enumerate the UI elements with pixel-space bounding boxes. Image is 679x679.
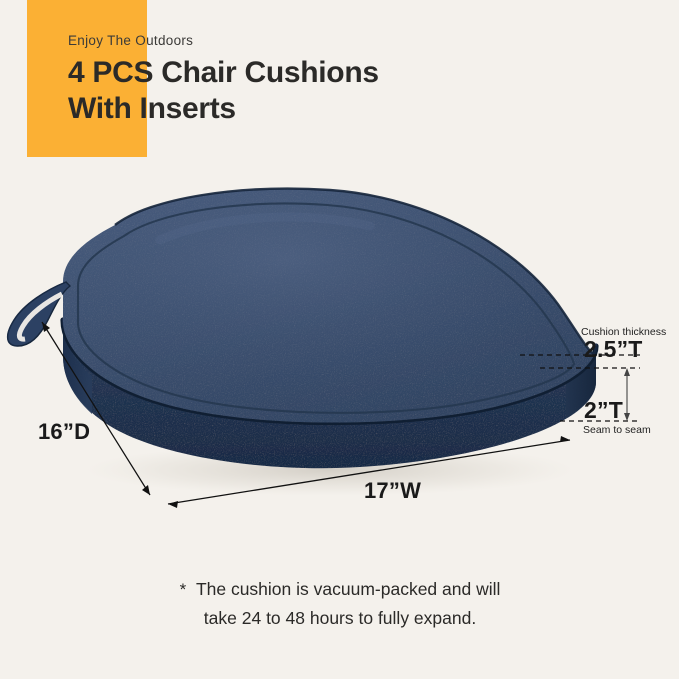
- page-title: 4 PCS Chair Cushions With Inserts: [68, 55, 528, 127]
- infographic-canvas: Enjoy The Outdoors 4 PCS Chair Cushions …: [0, 0, 679, 679]
- footnote: * The cushion is vacuum-packed and will …: [120, 575, 560, 633]
- headline-line-1: 4 PCS Chair Cushions: [68, 56, 379, 89]
- footnote-line-2: take 24 to 48 hours to fully expand.: [120, 604, 560, 633]
- headline-line-2: With Inserts: [68, 91, 528, 127]
- width-label: 17”W: [364, 478, 421, 504]
- asterisk-icon: *: [180, 580, 187, 599]
- cushion-illustration: [0, 170, 640, 520]
- fabric-tie-loop: [8, 282, 70, 346]
- cushion-thickness-label: 2.5”T: [584, 336, 643, 363]
- seam-to-seam-caption: Seam to seam: [583, 424, 651, 436]
- footnote-line-1: * The cushion is vacuum-packed and will: [120, 575, 560, 604]
- eyebrow-text: Enjoy The Outdoors: [68, 33, 193, 48]
- depth-label: 16”D: [38, 419, 90, 445]
- footnote-text-1: The cushion is vacuum-packed and will: [196, 579, 500, 599]
- seam-thickness-label: 2”T: [584, 397, 623, 424]
- product-image: [0, 170, 640, 520]
- cushion-top-surface: [63, 189, 596, 423]
